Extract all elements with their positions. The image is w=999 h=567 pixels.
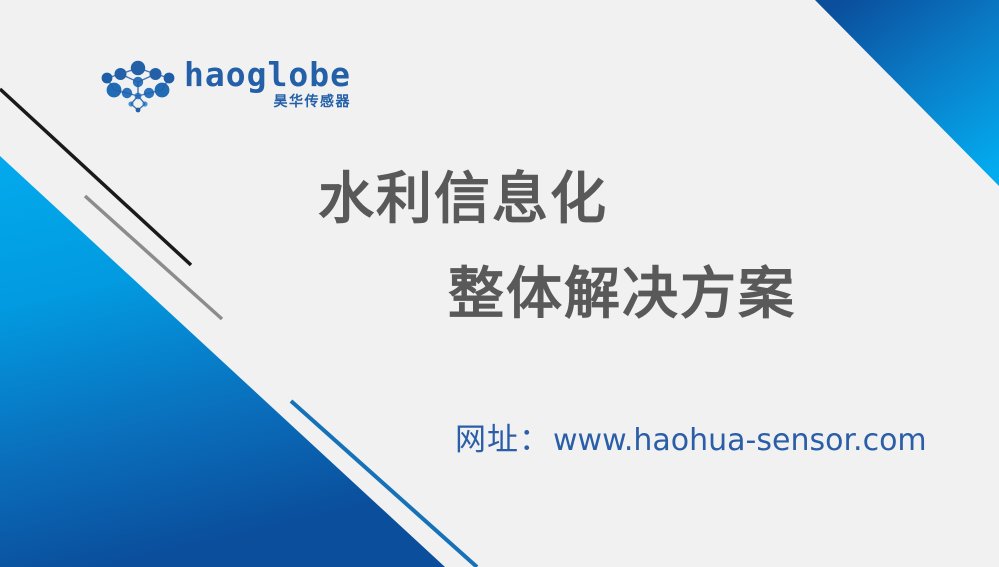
website-label: 网址： [455,422,551,458]
presentation-slide: haoglobe 昊华传感器 水利信息化 整体解决方案 网址：www.haohu… [0,0,999,567]
website-url[interactable]: www.haohua-sensor.com [553,423,927,458]
haoglobe-network-logo-icon [98,60,178,118]
logo-wordmark: haoglobe [184,58,351,92]
brand-logo: haoglobe 昊华传感器 [98,58,313,120]
page-title-line-2: 整体解决方案 [448,265,796,325]
page-title-line-1: 水利信息化 [318,170,608,230]
logo-subtitle-chinese: 昊华传感器 [273,94,351,110]
top-right-blue-triangle [815,0,999,186]
logo-text-block: haoglobe 昊华传感器 [184,58,351,110]
website-line: 网址：www.haohua-sensor.com [455,420,927,466]
